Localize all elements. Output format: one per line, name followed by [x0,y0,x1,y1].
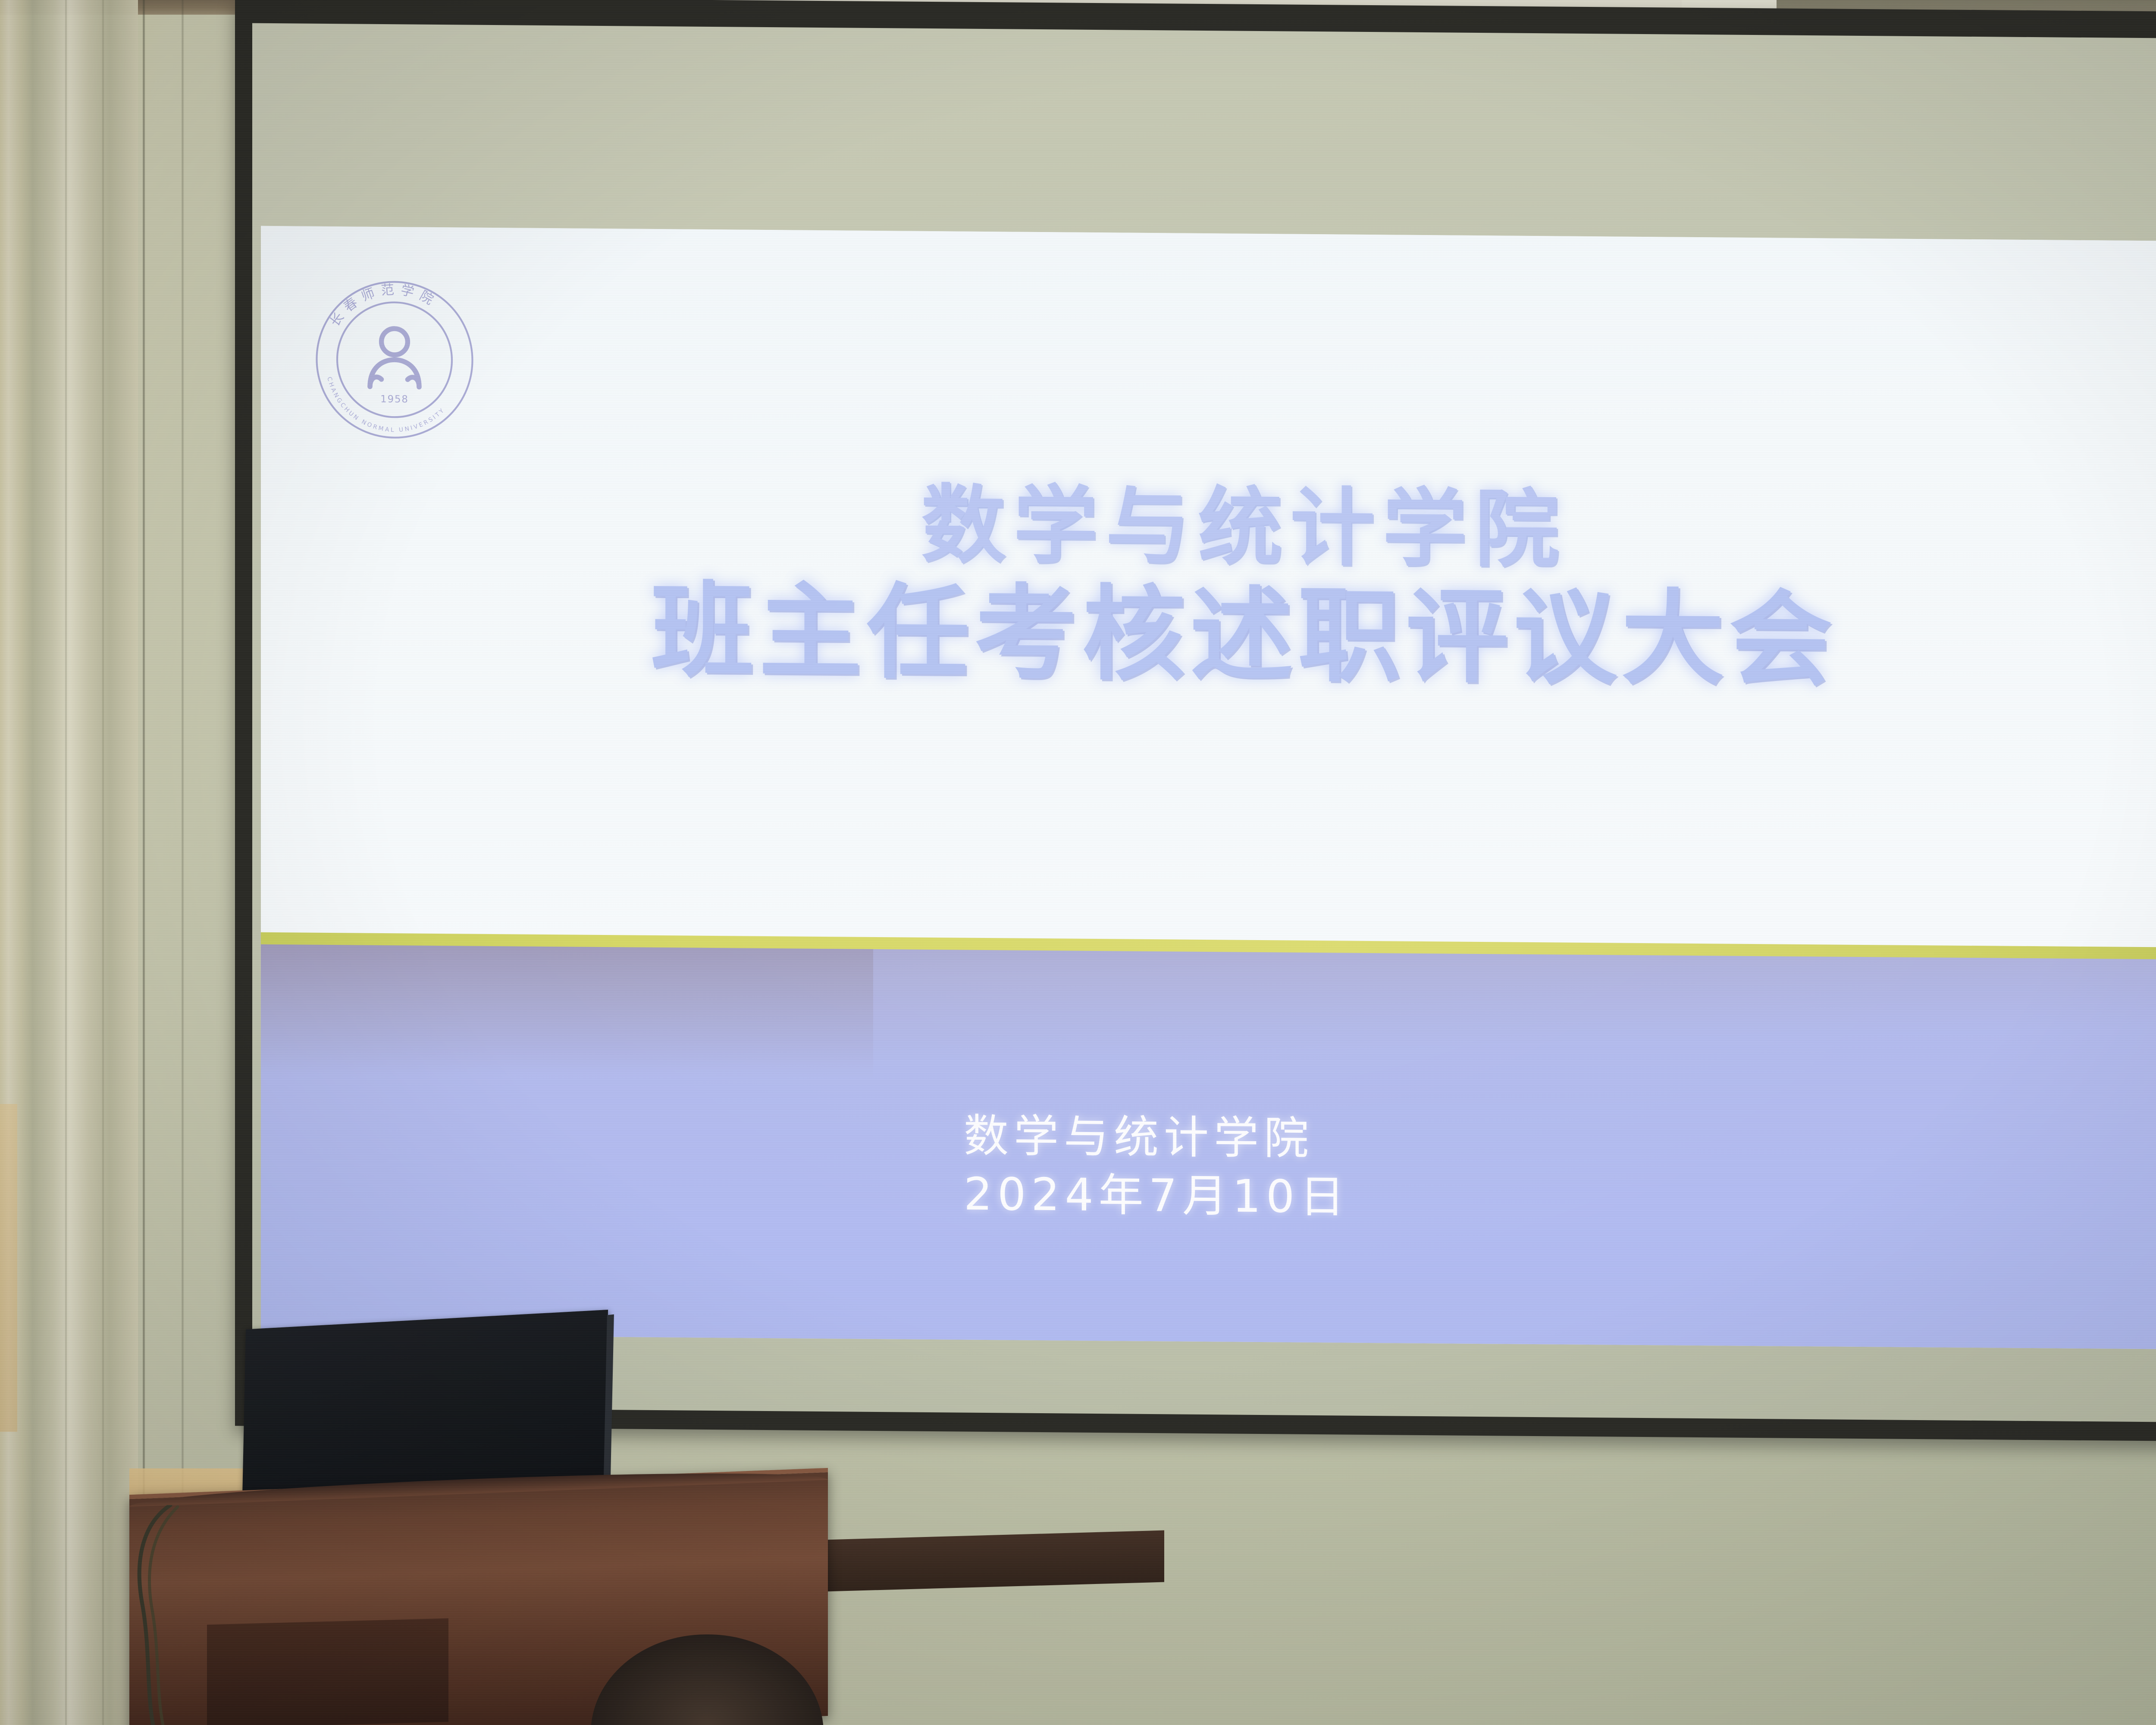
window-curtain [0,0,138,1725]
screenshot-root: 1958 长春师范学院 CHANGCHUN NORMAL UNIVERSITY [0,0,2156,1725]
svg-text:1958: 1958 [380,394,409,405]
curtain-fold [102,0,104,1725]
projector-screen-surface: 1958 长春师范学院 CHANGCHUN NORMAL UNIVERSITY [252,23,2156,1423]
wall-seam [181,0,184,1725]
wall-seam [142,0,145,1725]
slide-title-line2: 班主任考核述职评议大会 [261,574,2156,698]
slide-subtitle-organization: 数学与统计学院 [964,1107,1350,1168]
svg-text:长春师范学院: 长春师范学院 [327,282,441,330]
slide-subtitle-block: 数学与统计学院 2024年7月10日 [964,1107,1350,1226]
projected-slide: 1958 长春师范学院 CHANGCHUN NORMAL UNIVERSITY [261,226,2156,1350]
slide-subtitle-date: 2024年7月10日 [964,1165,1350,1226]
podium-shelf [811,1531,1164,1592]
slide-title-block: 数学与统计学院 班主任考核述职评议大会 [261,476,2156,698]
projector-screen-frame: 1958 长春师范学院 CHANGCHUN NORMAL UNIVERSITY [235,0,2156,1442]
podium-base [207,1618,448,1725]
slide-band-shadow [261,944,873,1079]
power-cable [129,1505,190,1725]
wall-warm-panel [0,1104,17,1432]
slide-title-line1: 数学与统计学院 [261,476,2156,580]
university-seal-logo: 1958 长春师范学院 CHANGCHUN NORMAL UNIVERSITY [313,277,476,442]
curtain-fold [65,0,67,1725]
